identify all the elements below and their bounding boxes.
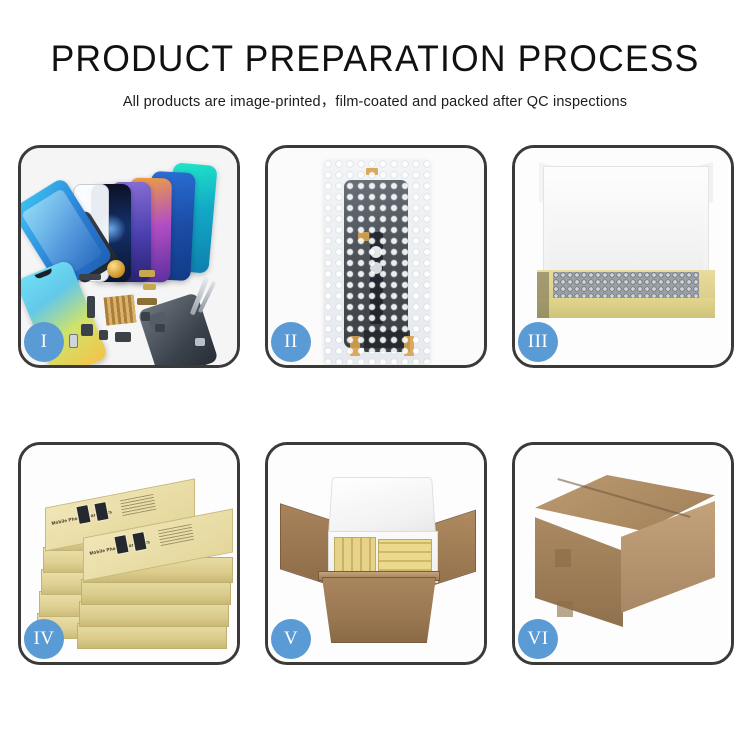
process-step-panel-2: II (265, 145, 487, 368)
tray-edge-icon (537, 272, 549, 318)
step-badge-6: VI (518, 619, 558, 659)
foam-sheet-icon (549, 188, 703, 270)
process-step-grid: I (18, 145, 735, 665)
camera-module-icon (107, 260, 125, 278)
process-step-panel-4: Mobile Phone Spare Parts Mobile Phone Sp… (18, 442, 240, 665)
bubble-texture (324, 160, 430, 364)
step-badge-3: III (518, 322, 558, 362)
component-icon (139, 270, 155, 277)
component-icon (155, 324, 165, 332)
carton-left-face-icon (535, 515, 623, 627)
step-badge-1: I (24, 322, 64, 362)
component-icon (141, 312, 150, 321)
process-step-panel-3: III (512, 145, 734, 368)
page-title: PRODUCT PREPARATION PROCESS (15, 40, 735, 79)
component-icon (143, 284, 156, 290)
carton-tape-icon (555, 549, 571, 567)
process-step-panel-1: I (18, 145, 240, 368)
bubble-wrap-bag-icon (324, 160, 430, 364)
carton-body-icon (322, 577, 436, 643)
component-icon (99, 330, 108, 340)
component-icon (81, 324, 93, 336)
styrofoam-lid-icon (328, 477, 436, 537)
infographic-page: PRODUCT PREPARATION PROCESS All products… (0, 0, 750, 750)
component-icon (137, 298, 157, 305)
process-step-panel-5: V (265, 442, 487, 665)
tray-front-icon (537, 298, 715, 318)
component-icon (87, 296, 95, 318)
page-subtitle: All products are image-printed，film-coat… (0, 90, 750, 111)
chip-array-icon (104, 295, 137, 326)
step-badge-4: IV (24, 619, 64, 659)
carton-tape-icon (557, 601, 573, 617)
component-icon (195, 338, 205, 346)
process-step-panel-6: VI (512, 442, 734, 665)
step-badge-2: II (271, 322, 311, 362)
component-icon (69, 334, 78, 348)
component-icon (115, 332, 131, 342)
component-icon (79, 274, 101, 280)
header: PRODUCT PREPARATION PROCESS All products… (0, 40, 750, 111)
step-badge-5: V (271, 619, 311, 659)
